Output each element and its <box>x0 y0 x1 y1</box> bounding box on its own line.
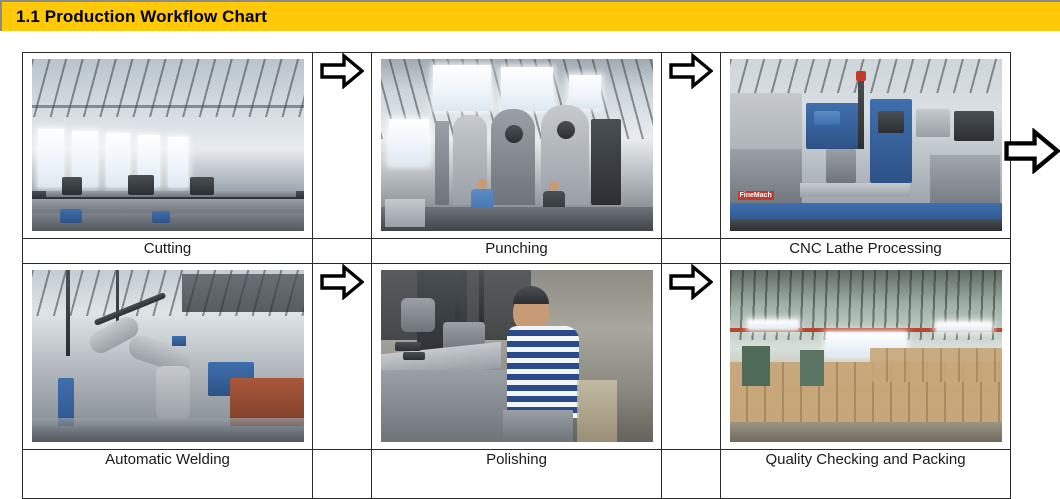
cell-photo-quality-checking-and-packing <box>721 264 1011 450</box>
page-title: 1.1 Production Workflow Chart <box>16 7 267 27</box>
right-arrow-icon <box>320 264 364 300</box>
photo-cutting <box>32 59 304 231</box>
section-header-bar: 1.1 Production Workflow Chart <box>0 0 1060 31</box>
photo-polishing <box>381 270 653 442</box>
spacer-cell-4 <box>662 450 721 499</box>
label-cell-quality-checking-and-packing: Quality Checking and Packing <box>721 450 1011 499</box>
workflow-row-2-labels: Automatic Welding Polishing Quality Chec… <box>23 450 1011 499</box>
step-label: Automatic Welding <box>105 451 230 468</box>
workflow-row-1-photos: FineMach <box>23 53 1011 239</box>
spacer-cell-1 <box>313 239 372 264</box>
right-arrow-icon <box>669 53 713 89</box>
label-cell-cnc-lathe-processing: CNC Lathe Processing <box>721 239 1011 264</box>
cnc-brand-label: FineMach <box>738 191 774 200</box>
right-arrow-icon <box>1004 128 1060 174</box>
cell-arrow-1 <box>313 53 372 239</box>
cell-photo-cnc-lathe-processing: FineMach <box>721 53 1011 239</box>
step-label: Punching <box>485 240 548 257</box>
step-label: Quality Checking and Packing <box>765 451 965 468</box>
label-cell-polishing: Polishing <box>372 450 662 499</box>
step-label: Polishing <box>486 451 547 468</box>
label-cell-punching: Punching <box>372 239 662 264</box>
cell-arrow-2 <box>662 53 721 239</box>
label-cell-cutting: Cutting <box>23 239 313 264</box>
photo-quality-checking-and-packing <box>730 270 1002 442</box>
cell-arrow-3 <box>313 264 372 450</box>
cell-photo-cutting <box>23 53 313 239</box>
spacer-cell-2 <box>662 239 721 264</box>
cell-arrow-outer <box>1004 128 1060 174</box>
spacer-cell-3 <box>313 450 372 499</box>
workflow-row-2-photos <box>23 264 1011 450</box>
workflow-row-1-labels: Cutting Punching CNC Lathe Processing <box>23 239 1011 264</box>
cell-photo-automatic-welding <box>23 264 313 450</box>
label-cell-automatic-welding: Automatic Welding <box>23 450 313 499</box>
production-workflow-table: FineMach Cutting Punching CNC Lathe Proc… <box>22 52 1011 499</box>
cell-photo-punching <box>372 53 662 239</box>
step-label: Cutting <box>144 240 192 257</box>
photo-punching <box>381 59 653 231</box>
right-arrow-icon <box>320 53 364 89</box>
cell-arrow-4 <box>662 264 721 450</box>
step-label: CNC Lathe Processing <box>789 240 942 257</box>
photo-cnc-lathe-processing: FineMach <box>730 59 1002 231</box>
cell-photo-polishing <box>372 264 662 450</box>
photo-automatic-welding <box>32 270 304 442</box>
right-arrow-icon <box>669 264 713 300</box>
